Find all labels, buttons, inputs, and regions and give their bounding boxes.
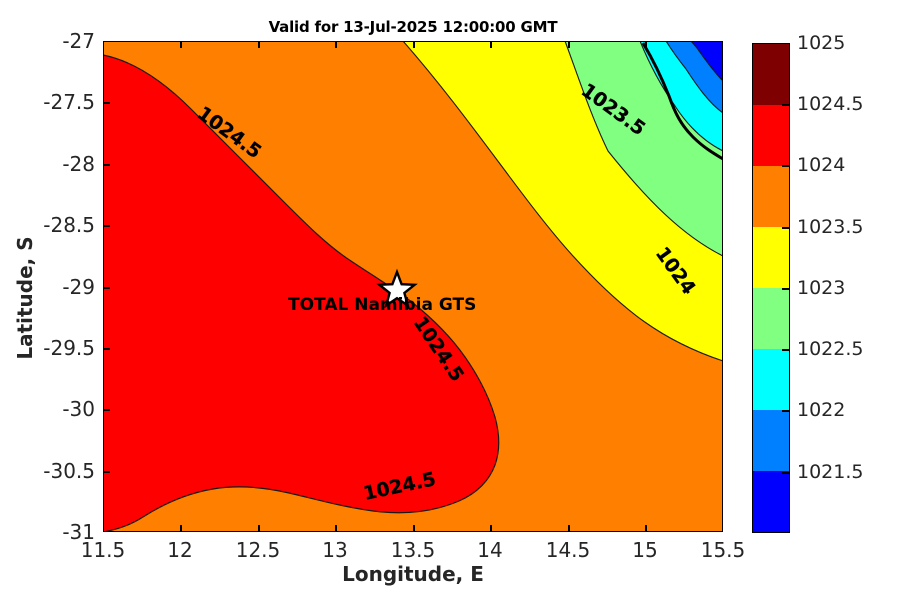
x-tick-top [180,41,182,48]
y-tick-label: -28 [0,152,95,176]
chart-title: Valid for 13-Jul-2025 12:00:00 GMT [103,18,723,36]
x-tick-label: 12 [167,538,192,562]
y-tick [103,471,110,473]
x-tick-label: 15 [632,538,657,562]
colorbar-tick-label: 1023 [797,277,845,299]
colorbar-tick-label: 1025 [797,32,845,54]
figure-root: Valid for 13-Jul-2025 12:00:00 GMT 1024.… [0,0,900,600]
colorbar-band-1024p5 [753,105,789,166]
y-tick [103,225,110,227]
y-tick [103,164,110,166]
station-label: TOTAL Namibia GTS [288,295,476,315]
colorbar-tick [782,410,790,412]
plot-area: 1024.5 1023.5 1024 1024.5 1024.5 [103,41,723,532]
colorbar-tick [782,227,790,229]
colorbar-tick [782,349,790,351]
colorbar-tick-label: 1023.5 [797,216,863,238]
x-tick-label: 14 [477,538,502,562]
x-tick-top [490,41,492,48]
plot-frame [103,41,723,532]
y-tick-label: -27.5 [0,90,95,114]
x-tick-label: 14.5 [546,538,591,562]
x-tick-label: 13 [322,538,347,562]
x-tick-top [413,41,415,48]
y-tick-label: -30.5 [0,459,95,483]
colorbar-tick-label: 1021.5 [797,461,863,483]
colorbar-tick [782,472,790,474]
colorbar-band-1025 [753,44,789,105]
x-tick [413,525,415,532]
x-tick-top [568,41,570,48]
y-tick-label: -27 [0,29,95,53]
y-tick [103,287,110,289]
x-tick-label: 11.5 [81,538,126,562]
x-tick-label: 13.5 [391,538,436,562]
colorbar-band-1021p5 [753,471,789,532]
y-axis-title: Latitude, S [13,178,37,418]
colorbar-tick-label: 1022 [797,399,845,421]
x-tick [490,525,492,532]
x-tick-top [335,41,337,48]
x-tick-label: 15.5 [701,538,746,562]
colorbar-band-1023 [753,288,789,349]
y-tick [103,102,110,104]
colorbar-band-1023p5 [753,227,789,288]
x-tick [645,525,647,532]
colorbar-tick [782,104,790,106]
x-tick-top [645,41,647,48]
colorbar-tick [782,288,790,290]
colorbar-band-1022p5 [753,349,789,410]
x-axis-title: Longitude, E [103,562,723,586]
colorbar-tick-label: 1024.5 [797,93,863,115]
colorbar-band-1022 [753,410,789,471]
y-tick [103,409,110,411]
colorbar-tick-label: 1022.5 [797,338,863,360]
x-tick-top [258,41,260,48]
colorbar-tick-label: 1024 [797,154,845,176]
y-tick [103,348,110,350]
x-tick [568,525,570,532]
colorbar-band-1024 [753,166,789,227]
x-tick [180,525,182,532]
x-tick [335,525,337,532]
x-tick [258,525,260,532]
x-tick-label: 12.5 [236,538,281,562]
colorbar-tick [782,165,790,167]
